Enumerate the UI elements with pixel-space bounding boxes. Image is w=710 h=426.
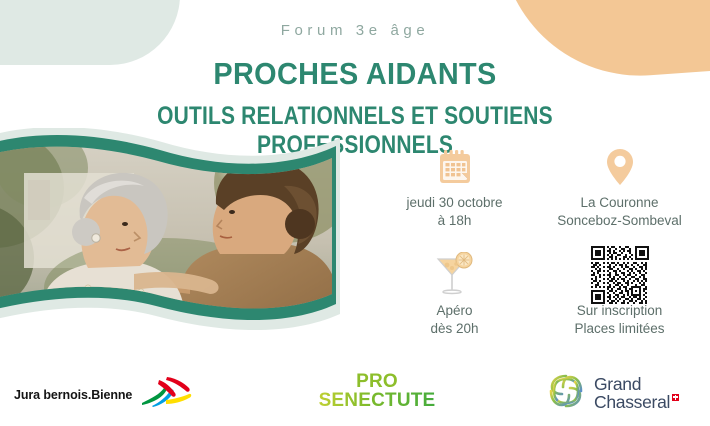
logo-pro-line2: SENECTUTE: [312, 391, 442, 410]
calendar-icon: [438, 142, 472, 192]
info-date-text: jeudi 30 octobre à 18h: [406, 194, 502, 230]
info-item-apero: Apéro dès 20h: [372, 250, 537, 358]
logo-grand-chasseral[interactable]: Grand Chasseral: [545, 370, 679, 417]
info-item-location: La Couronne Sonceboz-Sombeval: [537, 142, 702, 250]
cocktail-glass-icon: [434, 250, 476, 300]
hero-photo: [0, 128, 340, 336]
info-apero-text: Apéro dès 20h: [430, 302, 478, 338]
logo-pro-senectute[interactable]: PRO SENECTUTE: [312, 372, 442, 411]
logo-gc-line2-wrap: Chasseral: [594, 394, 679, 411]
info-registration-line2: Places limitées: [574, 320, 664, 338]
info-item-date: jeudi 30 octobre à 18h: [372, 142, 537, 250]
info-registration-text: Sur inscription Places limitées: [574, 302, 664, 338]
info-location-line2: Sonceboz-Sombeval: [557, 212, 682, 230]
info-location-text: La Couronne Sonceboz-Sombeval: [557, 194, 682, 230]
logo-jura-bernois-bienne[interactable]: Jura bernois.Bienne: [14, 376, 192, 413]
location-pin-icon: [606, 142, 634, 192]
info-apero-line2: dès 20h: [430, 320, 478, 338]
logo-gc-line2: Chasseral: [594, 392, 670, 412]
info-item-registration: Sur inscription Places limitées: [537, 250, 702, 358]
info-registration-line1: Sur inscription: [574, 302, 664, 320]
info-date-line1: jeudi 30 octobre: [406, 194, 502, 212]
info-date-line2: à 18h: [406, 212, 502, 230]
poster-kicker: Forum 3e âge: [0, 22, 710, 39]
info-location-line1: La Couronne: [557, 194, 682, 212]
knot-emblem-icon: [545, 370, 587, 417]
event-info-grid: jeudi 30 octobre à 18h La Couronne Sonce…: [372, 142, 702, 357]
poster-canvas: Forum 3e âge PROCHES AIDANTS OUTILS RELA…: [0, 0, 710, 426]
qr-code-icon[interactable]: [591, 250, 649, 300]
logo-pro-line1: PRO: [312, 372, 442, 391]
swoosh-mark-icon: [136, 376, 192, 413]
logo-jura-label: Jura bernois.Bienne: [14, 388, 132, 402]
swiss-cross-icon: [672, 394, 679, 401]
hero-photo-svg: [0, 128, 340, 336]
page-title: PROCHES AIDANTS: [25, 56, 685, 92]
logo-gc-label: Grand Chasseral: [594, 376, 679, 410]
info-apero-line1: Apéro: [430, 302, 478, 320]
